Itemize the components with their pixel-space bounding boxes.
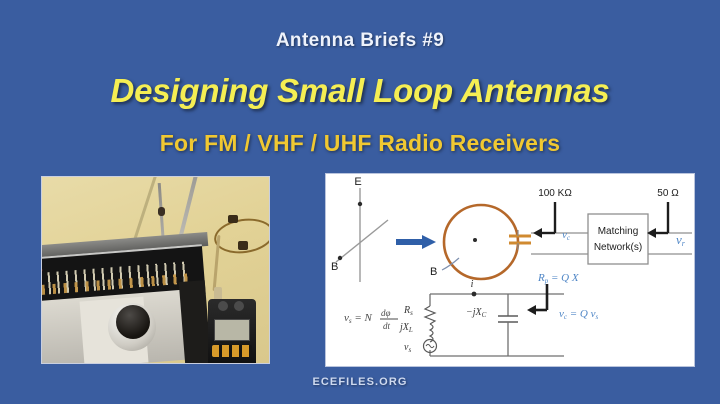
emf-equation: vs = N dφ dt	[344, 308, 398, 331]
label-e-field: E	[354, 176, 361, 188]
label-vc-equation: vc = Q vs	[559, 308, 599, 321]
source-impedance-probe	[533, 202, 555, 238]
equivalent-circuit-wires	[430, 294, 564, 356]
matching-network-line1: Matching	[598, 226, 639, 237]
label-current-i: i	[471, 279, 474, 290]
label-jxl: jXL	[398, 322, 413, 334]
loop-antenna-block-top	[228, 215, 238, 223]
label-50-ohm: 50 Ω	[657, 188, 679, 199]
matching-network-line2: Network(s)	[594, 242, 642, 253]
antenna-tip	[158, 207, 165, 216]
loop-antenna-diagram: E B B	[325, 173, 695, 367]
loop-antenna-block-bottom	[238, 241, 248, 250]
radio-photo	[41, 176, 270, 364]
svg-text:dt: dt	[383, 321, 391, 331]
label-vs: vs	[404, 342, 411, 354]
label-vc: vc	[562, 229, 571, 242]
circuit-node-dot	[472, 292, 477, 297]
em-field-axes	[336, 188, 388, 282]
emf-source-sine	[426, 344, 434, 347]
label-vr: vr	[676, 232, 686, 248]
load-impedance-probe	[647, 202, 668, 238]
rp-pointer-arrow	[527, 284, 547, 315]
series-kicker: Antenna Briefs #9	[0, 30, 720, 52]
label-rs: Rs	[403, 305, 413, 317]
page-title: Designing Small Loop Antennas	[0, 72, 720, 110]
label-rp-equation: Rp = Q X	[537, 272, 580, 285]
svg-text:dφ: dφ	[381, 308, 391, 318]
loop-b-dot	[473, 238, 477, 242]
series-resistor	[425, 306, 435, 324]
label-jxc: −jXC	[466, 307, 487, 319]
handheld-display	[214, 319, 250, 341]
tuning-capacitor	[509, 230, 531, 250]
page-subtitle: For FM / VHF / UHF Radio Receivers	[0, 130, 720, 157]
svg-text:vs = N: vs = N	[344, 312, 373, 325]
handheld-knob-right	[234, 301, 244, 311]
tuning-capacitor-branch	[498, 316, 518, 330]
handheld-keypad	[212, 345, 252, 357]
label-100-kohm: 100 KΩ	[538, 188, 572, 199]
propagation-arrow	[396, 235, 436, 249]
label-b-field-loop: B	[430, 266, 437, 278]
matching-network-box	[588, 214, 648, 264]
loop-antenna-circle	[444, 205, 518, 279]
handheld-knob-left	[218, 301, 228, 311]
tuning-knob	[116, 305, 150, 339]
footer-site-label: ECEFILES.ORG	[0, 376, 720, 388]
slide-canvas: Antenna Briefs #9 Designing Small Loop A…	[0, 0, 720, 404]
label-b-field-left: B	[331, 261, 338, 273]
